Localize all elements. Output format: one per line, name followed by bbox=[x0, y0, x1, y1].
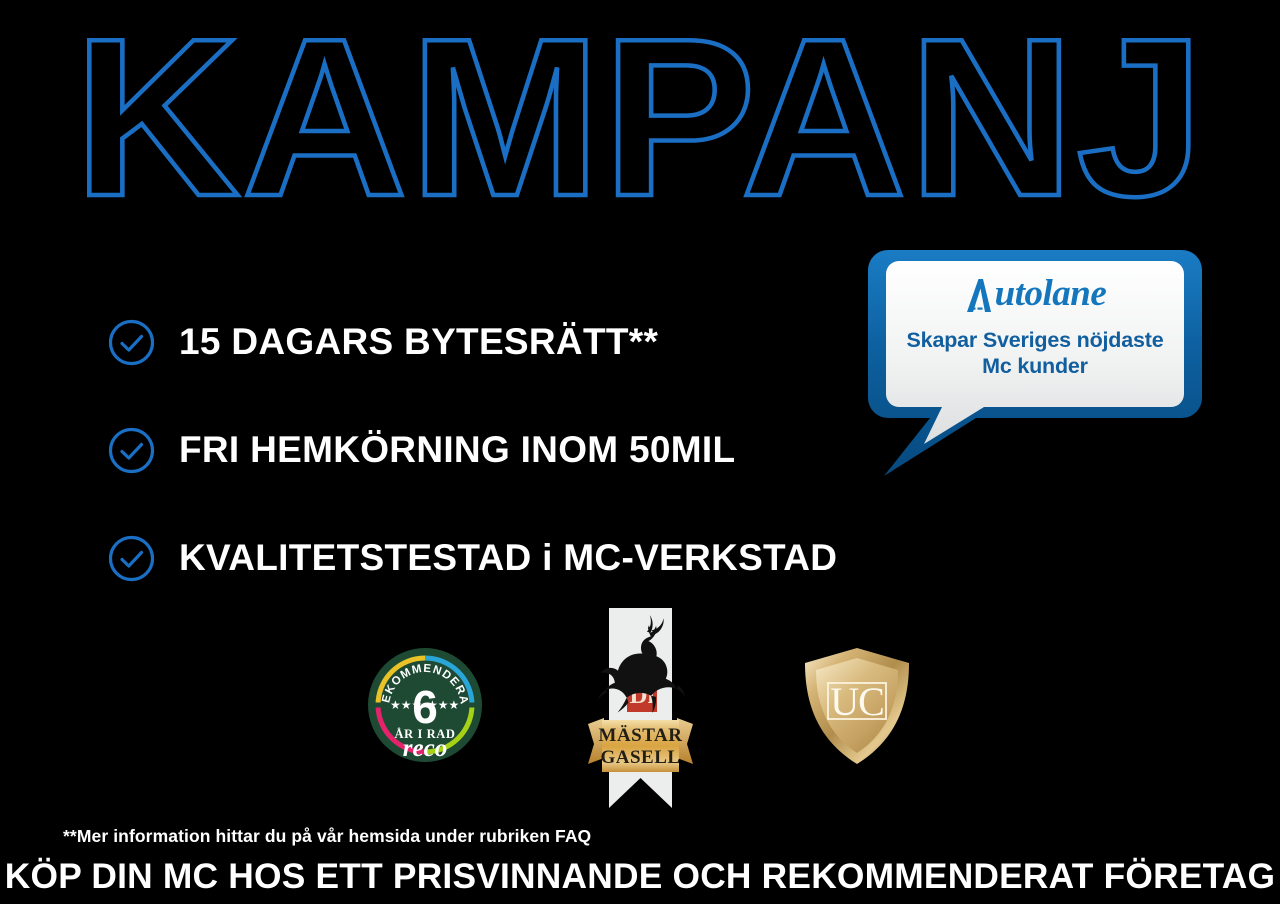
autolane-logo: utolane bbox=[964, 274, 1107, 314]
gasell-ribbon-line1: MÄSTAR bbox=[599, 725, 683, 746]
uc-monogram-text: UC bbox=[830, 679, 884, 724]
list-item-label: 15 DAGARS BYTESRÄTT** bbox=[179, 321, 658, 363]
list-item: 15 DAGARS BYTESRÄTT** bbox=[108, 288, 868, 396]
check-circle-icon bbox=[108, 319, 155, 366]
check-circle-icon bbox=[108, 427, 155, 474]
autolane-logo-text: utolane bbox=[995, 274, 1107, 314]
list-item-label: FRI HEMKÖRNING INOM 50MIL bbox=[179, 429, 735, 471]
check-circle-icon bbox=[108, 535, 155, 582]
list-item-label: KVALITETSTESTAD i MC-VERKSTAD bbox=[179, 537, 837, 579]
autolane-lane-a-icon bbox=[964, 278, 994, 314]
footer-headline: KÖP DIN MC HOS ETT PRISVINNANDE OCH REKO… bbox=[0, 857, 1280, 897]
gasell-ribbon-line2: GASELL bbox=[600, 747, 680, 768]
bubble-tagline-line1: Skapar Sveriges nöjdaste bbox=[884, 327, 1186, 353]
campaign-poster: KAMPANJ 15 DAGARS BYTESRÄTT** FRI HEMKÖR… bbox=[0, 0, 1280, 904]
di-mastar-gasell-badge: Di MÄSTAR GASELL bbox=[588, 608, 693, 818]
benefits-list: 15 DAGARS BYTESRÄTT** FRI HEMKÖRNING INO… bbox=[108, 288, 868, 612]
footnote-text: **Mer information hittar du på vår hemsi… bbox=[63, 826, 591, 847]
award-badges-row: REKOMMENDERAT ★★★ ★★★ 6 ÅR I RAD reco bbox=[0, 600, 1280, 820]
reco-recommended-badge: REKOMMENDERAT ★★★ ★★★ 6 ÅR I RAD reco bbox=[365, 645, 485, 770]
reco-wordmark: reco bbox=[403, 735, 447, 762]
uc-shield-badge: UC bbox=[798, 645, 916, 772]
reco-years-number: 6 bbox=[412, 681, 438, 733]
autolane-speech-bubble: utolane Skapar Sveriges nöjdaste Mc kund… bbox=[866, 248, 1204, 478]
list-item: KVALITETSTESTAD i MC-VERKSTAD bbox=[108, 504, 868, 612]
bubble-content: utolane Skapar Sveriges nöjdaste Mc kund… bbox=[884, 274, 1186, 379]
list-item: FRI HEMKÖRNING INOM 50MIL bbox=[108, 396, 868, 504]
bubble-tagline-line2: Mc kunder bbox=[884, 353, 1186, 379]
page-title: KAMPANJ bbox=[0, 10, 1280, 225]
bubble-tagline: Skapar Sveriges nöjdaste Mc kunder bbox=[884, 327, 1186, 379]
